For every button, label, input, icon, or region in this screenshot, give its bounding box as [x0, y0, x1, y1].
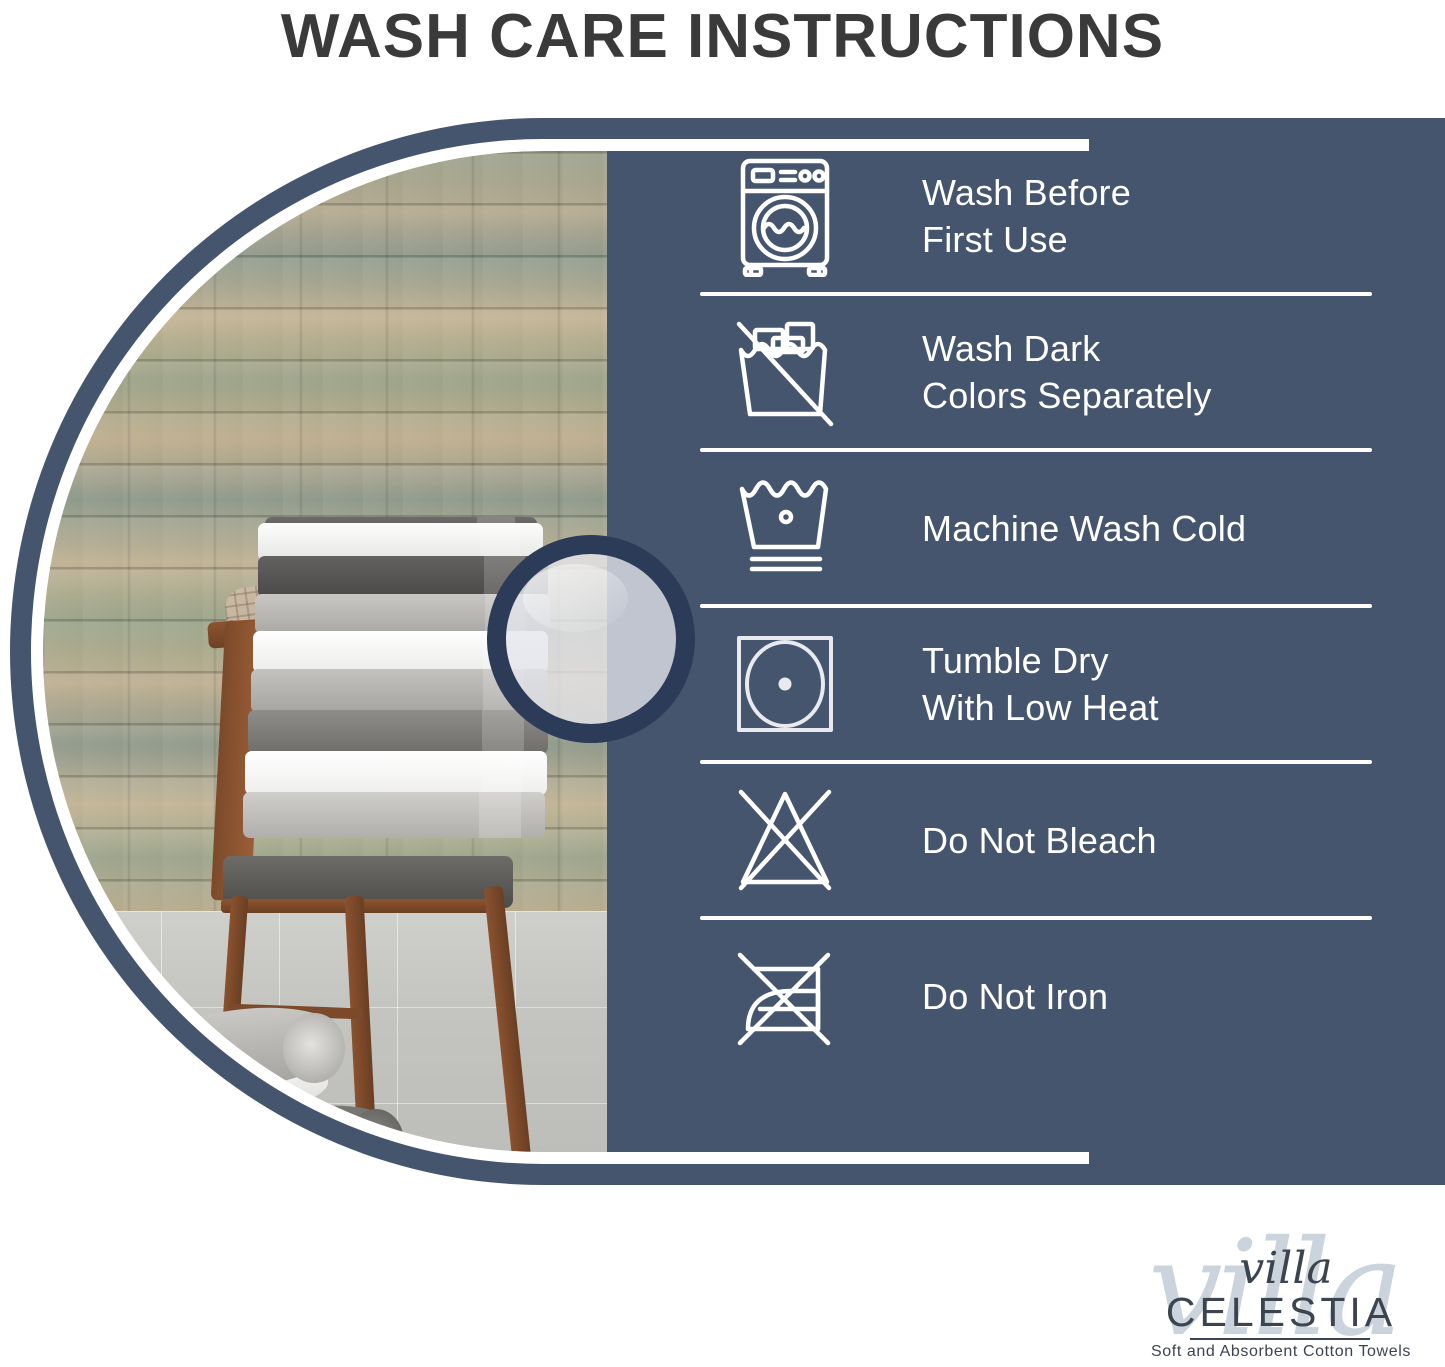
- washing-machine-icon: [700, 146, 870, 286]
- instruction-label: Wash Dark Colors Separately: [870, 325, 1212, 419]
- instruction-row-wash-dark-colors-separately[interactable]: Wash Dark Colors Separately: [700, 296, 1390, 448]
- instruction-row-do-not-bleach[interactable]: Do Not Bleach: [700, 764, 1390, 916]
- wash-care-list: Wash Before First Use Wash Dark Colors S…: [700, 140, 1390, 1170]
- logo-brand-name: CELESTIA: [1156, 1290, 1406, 1334]
- towel-stack-item: [248, 710, 548, 754]
- rolled-towel-end: [283, 1013, 345, 1083]
- do-not-iron-icon: [700, 926, 870, 1066]
- page-title: WASH CARE INSTRUCTIONS: [0, 0, 1445, 72]
- magnifier-circle: [487, 535, 695, 743]
- do-not-bleach-icon: [700, 770, 870, 910]
- brand-logo: villa villa CELESTIA Soft and Absorbent …: [1128, 1228, 1428, 1367]
- magnifier-gloss: [523, 564, 628, 632]
- instruction-label: Do Not Bleach: [870, 817, 1157, 864]
- instruction-label: Tumble Dry With Low Heat: [870, 637, 1159, 731]
- machine-wash-cold-icon: [700, 458, 870, 598]
- instruction-label: Do Not Iron: [870, 973, 1108, 1020]
- towel-stack-item: [245, 751, 547, 795]
- tumble-dry-low-heat-icon: [700, 614, 870, 754]
- instruction-row-wash-before-first-use[interactable]: Wash Before First Use: [700, 140, 1390, 292]
- logo-script-name: villa: [1196, 1246, 1376, 1292]
- instruction-label: Wash Before First Use: [870, 169, 1131, 263]
- instruction-label: Machine Wash Cold: [870, 505, 1246, 552]
- no-mixed-laundry-basket-icon: [700, 302, 870, 442]
- instruction-row-tumble-dry-low-heat[interactable]: Tumble Dry With Low Heat: [700, 608, 1390, 760]
- towel-stack-item: [243, 792, 545, 838]
- instruction-row-do-not-iron[interactable]: Do Not Iron: [700, 920, 1390, 1072]
- instruction-row-machine-wash-cold[interactable]: Machine Wash Cold: [700, 452, 1390, 604]
- logo-tagline: Soft and Absorbent Cotton Towels: [1146, 1342, 1416, 1362]
- logo-rule: [1190, 1338, 1370, 1340]
